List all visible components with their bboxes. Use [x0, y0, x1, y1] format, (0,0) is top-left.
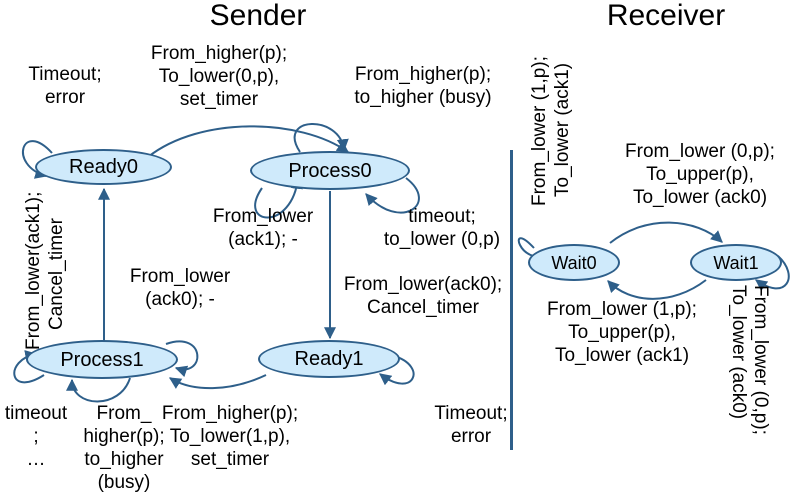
state-wait1[interactable]: Wait1 [690, 244, 782, 281]
arrow-wait1-wait0 [608, 280, 706, 299]
label-process1-ready0-line1: From_lower(ack1); [22, 192, 45, 350]
label-wait1-self-line2: To_lower (ack0) [727, 285, 750, 419]
state-wait1-label: Wait1 [713, 253, 758, 273]
label-wait0-self-line2: To_lower (ack1) [551, 63, 574, 197]
state-process1-label: Process1 [60, 350, 143, 370]
label-wait1-wait0: From_lower (1,p); To_upper(p), To_lower … [520, 298, 724, 367]
label-ready0-self: Timeout; error [0, 63, 130, 109]
state-ready1[interactable]: Ready1 [258, 340, 400, 378]
label-wait1-self-line1: From_lower (0,p); [749, 285, 772, 435]
diagram-canvas: Sender Receiver Ready0 Process0 Process1… [0, 0, 802, 501]
label-process1-self-left: timeout ; … [0, 402, 72, 471]
label-process1-self-mid: From_ higher(p); to_higher (busy) [68, 402, 180, 494]
label-process1-ready0: From_lower (ack0); - [104, 265, 256, 311]
label-process0-self-right: timeout; to_lower (0,p) [362, 205, 522, 251]
label-process0-self-top: From_higher(p); to_higher (busy) [325, 63, 521, 109]
state-ready0-label: Ready0 [69, 157, 138, 177]
state-ready1-label: Ready1 [295, 349, 364, 369]
state-process0-label: Process0 [288, 161, 371, 181]
label-process1-ready0-line2: Cancel_timer [45, 218, 68, 330]
label-ready1-self: Timeout; error [412, 402, 530, 448]
arrow-process0-self-top [295, 124, 344, 152]
label-process0-ready1: From_lower(ack0); Cancel_timer [330, 273, 516, 319]
label-process0-self-left: From_lower (ack1); - [188, 205, 338, 251]
label-wait0-wait1: From_lower (0,p); To_upper(p), To_lower … [598, 140, 802, 209]
state-wait0-label: Wait0 [551, 253, 596, 273]
state-process0[interactable]: Process0 [250, 151, 410, 190]
sender-title: Sender [128, 0, 388, 32]
label-wait0-self-line1: From_lower (1,p); [528, 56, 551, 206]
receiver-title: Receiver [566, 0, 766, 32]
arrow-ready1-process1 [170, 375, 266, 388]
state-ready0[interactable]: Ready0 [35, 149, 172, 185]
state-process1[interactable]: Process1 [26, 340, 178, 379]
arrow-process1-self-mid [72, 378, 130, 402]
label-ready0-process0: From_higher(p); To_lower(0,p), set_timer [124, 42, 314, 111]
arrow-wait0-wait1 [610, 223, 722, 243]
state-wait0[interactable]: Wait0 [528, 244, 620, 281]
